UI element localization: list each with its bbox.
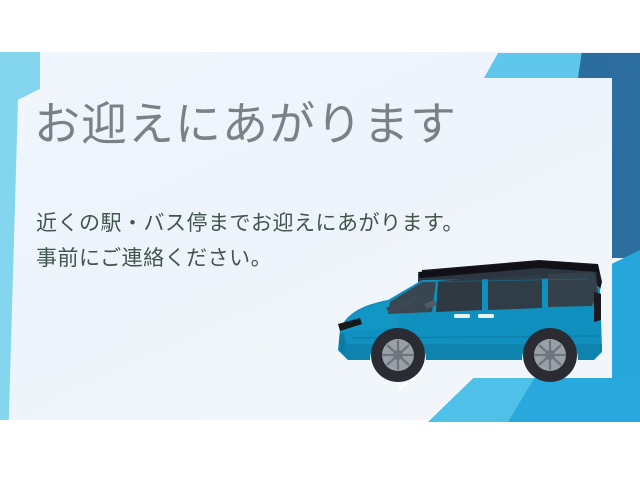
page-title: お迎えにあがります xyxy=(34,98,457,151)
top-right-light-accent-shape xyxy=(484,53,584,78)
description-line-1: 近くの駅・バス停までお迎えにあがります。 xyxy=(36,206,464,241)
minivan-illustration xyxy=(326,252,616,392)
pickup-service-banner: お迎えにあがります 近くの駅・バス停までお迎えにあがります。 事前にご連絡くださ… xyxy=(0,0,640,480)
right-edge-dark-accent-strip xyxy=(612,53,640,258)
